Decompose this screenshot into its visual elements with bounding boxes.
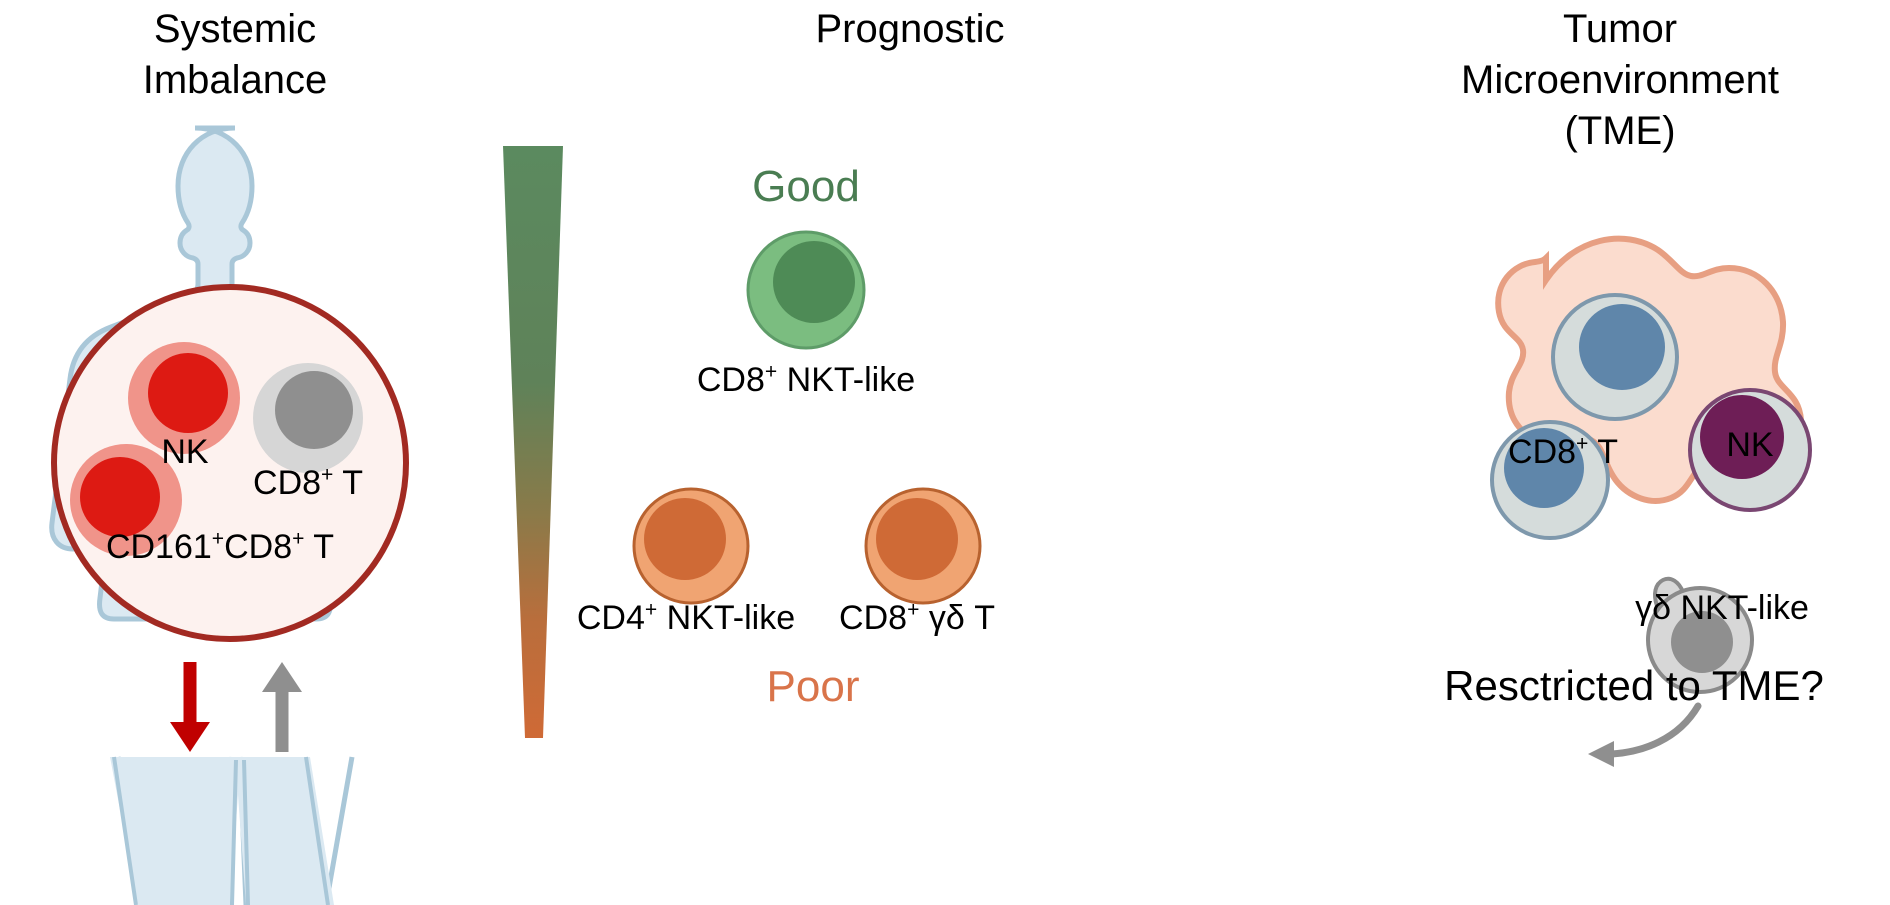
label-cd4-nkt-like: CD4+ NKT-like [577, 601, 795, 635]
panel-prognostic: Prognostic [470, 0, 1350, 905]
label-gd-nkt-like: γδ NKT-like [1635, 591, 1809, 625]
label-cd8-t-tme: CD8+ T [1508, 435, 1618, 469]
label-cd8-gd-t: CD8+ γδ T [839, 601, 995, 635]
label-cd8-t-systemic: CD8+ T [253, 466, 363, 500]
panel-tumor-microenvironment: Tumor Microenvironment (TME) [1350, 0, 1890, 905]
prognosis-good-label: Good [752, 165, 860, 209]
cell-cd4-nkt-like [634, 489, 748, 603]
increase-arrow-icon [262, 662, 302, 752]
figure-root: Systemic Imbalance [0, 0, 1890, 905]
cell-cd8-gd-t [866, 489, 980, 603]
decrease-arrow-icon [170, 662, 210, 752]
prognosis-gradient-wedge [503, 146, 563, 738]
prognosis-poor-label: Poor [767, 665, 860, 709]
panel-systemic-imbalance: Systemic Imbalance [0, 0, 470, 905]
tme-graphic [1350, 0, 1890, 905]
label-nk-tme: NK [1726, 428, 1773, 462]
tme-restriction-arrow-icon [1588, 706, 1698, 767]
cell-cd8-t-tme-upper [1553, 295, 1677, 419]
tme-restriction-question: Resctricted to TME? [1444, 665, 1824, 707]
cell-cd8-t-systemic [253, 363, 363, 473]
cell-cd8-nkt-like [748, 232, 864, 348]
label-nk-systemic: NK [161, 435, 208, 469]
systemic-body-graphic [0, 0, 470, 905]
label-cd161-cd8-t-systemic: CD161+CD8+ T [106, 530, 334, 564]
prognostic-graphic [470, 0, 1350, 905]
label-cd8-nkt-like: CD8+ NKT-like [697, 363, 915, 397]
